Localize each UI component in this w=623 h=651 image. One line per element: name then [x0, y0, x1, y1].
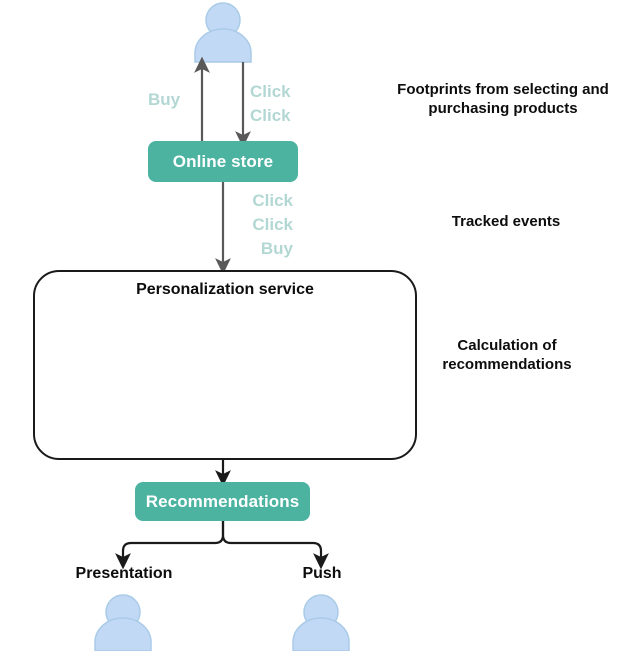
node-server-label: Server — [296, 410, 408, 430]
caption-click-line-2: Click — [250, 104, 320, 128]
person-icon-customer — [195, 3, 251, 62]
node-online-store[interactable]: Online store — [148, 141, 298, 182]
label-presentation: Presentation — [44, 565, 204, 583]
person-icon-presentation — [95, 595, 151, 651]
caption-click-click: Click Click — [250, 80, 320, 128]
label-push: Push — [262, 565, 382, 583]
node-recommendations-label: Recommendations — [146, 492, 300, 512]
annotation-calculation: Calculation of recommendations — [412, 336, 602, 374]
branch-connector-push — [223, 521, 321, 561]
node-online-store-label: Online store — [173, 152, 273, 172]
node-client-label: Client — [36, 349, 148, 369]
caption-events-line-3: Buy — [215, 237, 293, 261]
annotation-footprints: Footprints from selecting and purchasing… — [383, 80, 623, 118]
caption-buy: Buy — [148, 88, 200, 112]
caption-click-line-1: Click — [250, 80, 320, 104]
branch-connector-presentation — [123, 521, 223, 561]
caption-tracked-events: Click Click Buy — [215, 189, 293, 261]
node-recommendations[interactable]: Recommendations — [135, 482, 310, 521]
node-personalization-service-title: Personalization service — [33, 281, 417, 299]
annotation-tracked-events: Tracked events — [413, 212, 599, 231]
caption-events-line-1: Click — [215, 189, 293, 213]
diagram-canvas: Online store Buy Click Click Click Click… — [0, 0, 623, 651]
caption-events-line-2: Click — [215, 213, 293, 237]
person-icon-push — [293, 595, 349, 651]
